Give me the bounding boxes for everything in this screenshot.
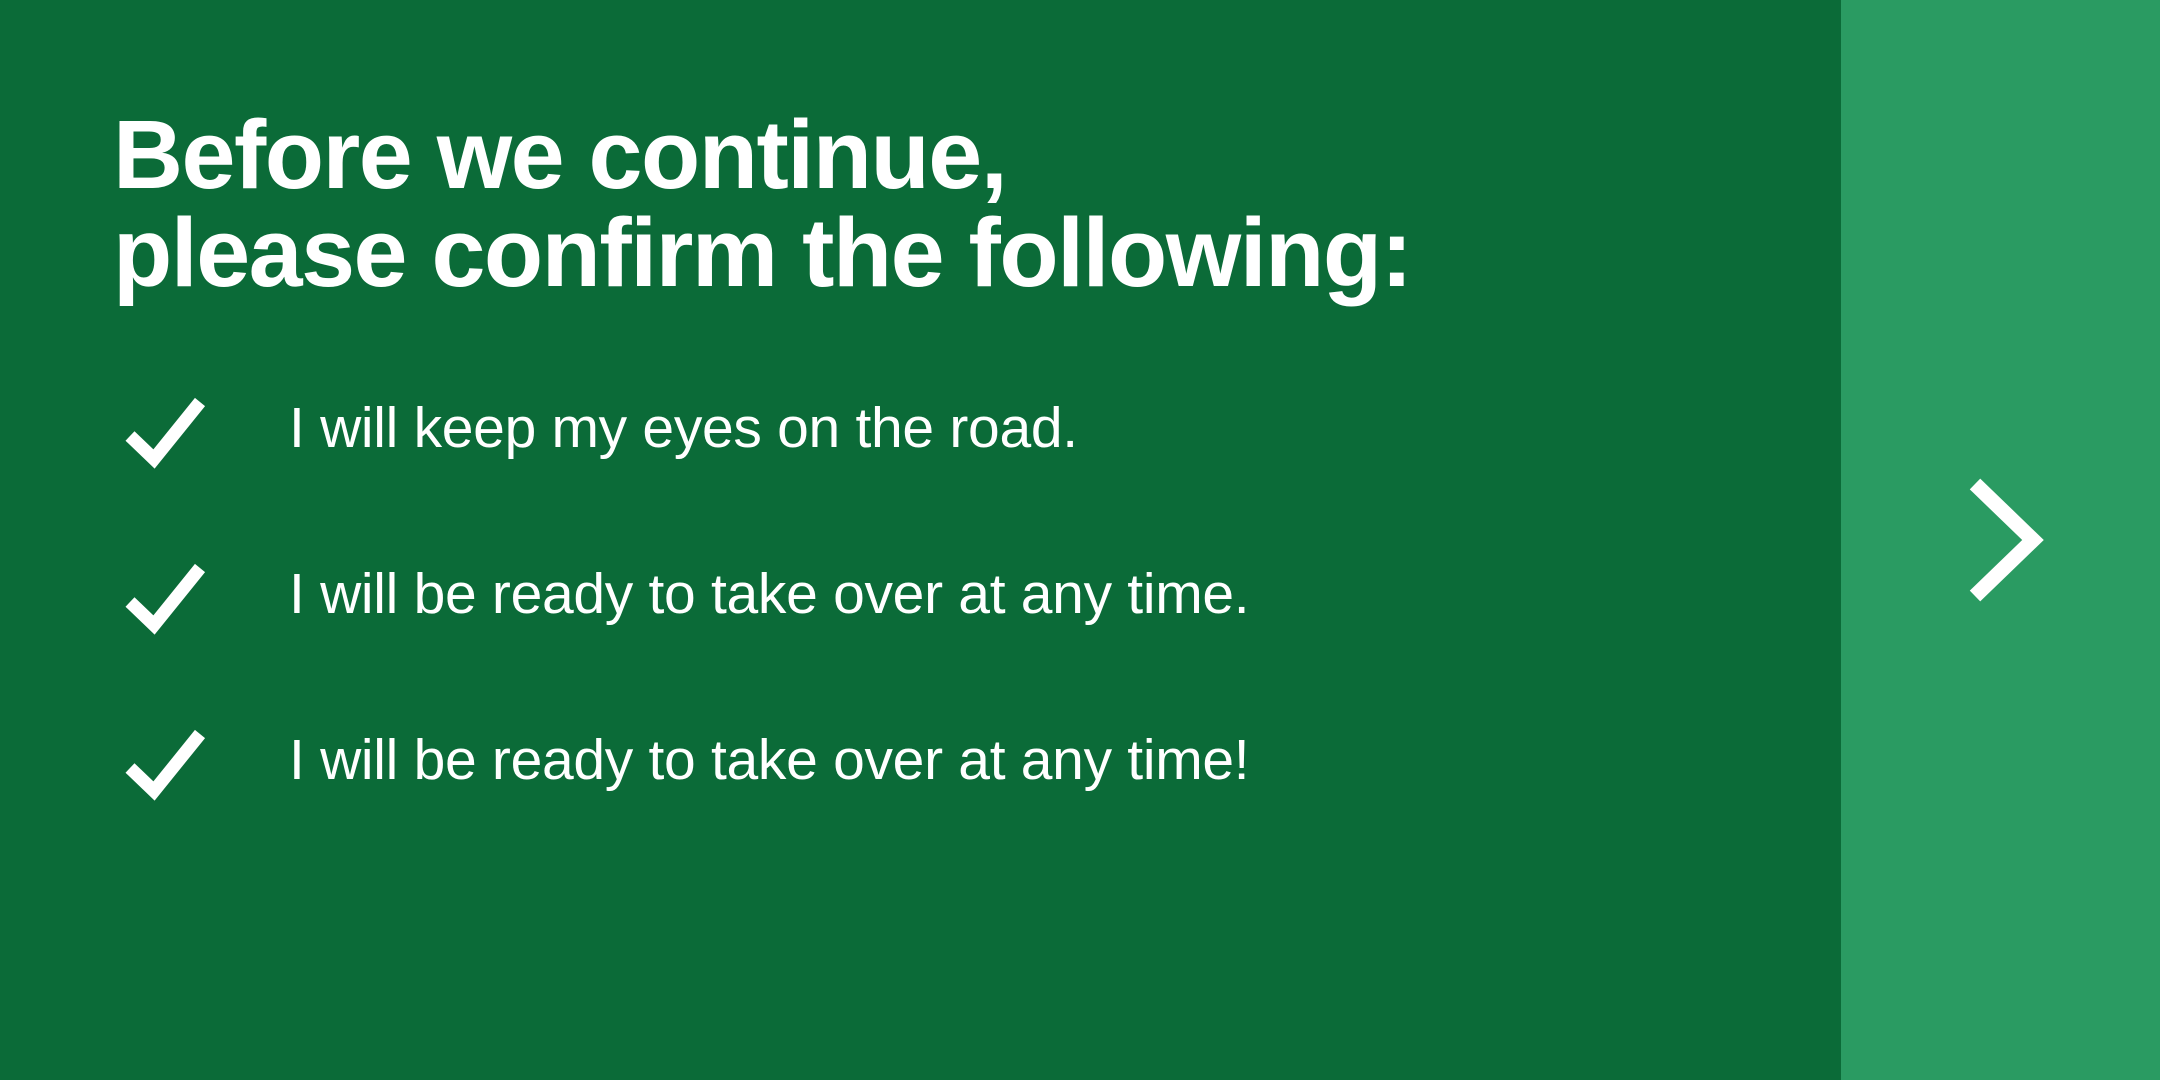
confirmation-checklist: I will keep my eyes on the road. I will …: [0, 392, 1841, 890]
list-item-label: I will be ready to take over at any time…: [289, 724, 1249, 796]
check-icon: [126, 396, 204, 474]
list-item-label: I will keep my eyes on the road.: [289, 392, 1078, 464]
list-item: I will be ready to take over at any time…: [0, 558, 1841, 724]
main-panel: Before we continue, please confirm the f…: [0, 0, 1841, 1080]
check-icon: [126, 562, 204, 640]
list-item-label: I will be ready to take over at any time…: [289, 558, 1249, 630]
chevron-right-icon[interactable]: [1841, 0, 2160, 1080]
next-button[interactable]: [1841, 0, 2160, 1080]
page-title: Before we continue, please confirm the f…: [113, 106, 1411, 302]
confirmation-screen: Before we continue, please confirm the f…: [0, 0, 2160, 1080]
check-icon: [126, 728, 204, 806]
list-item: I will be ready to take over at any time…: [0, 724, 1841, 890]
list-item: I will keep my eyes on the road.: [0, 392, 1841, 558]
